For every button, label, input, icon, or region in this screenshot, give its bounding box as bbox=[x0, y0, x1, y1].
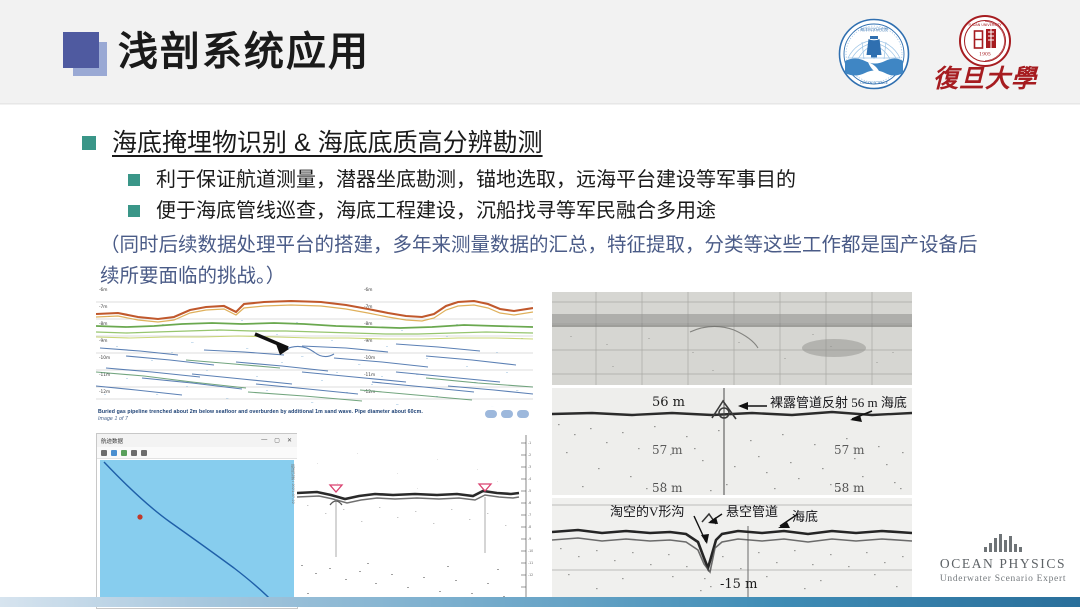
pager-dot[interactable] bbox=[501, 410, 513, 418]
bullet-marker-icon bbox=[128, 174, 140, 186]
svg-text:-1: -1 bbox=[528, 441, 531, 445]
svg-text:-9m: -9m bbox=[99, 338, 107, 344]
scoured-pipeline-profile: -15 m 淘空的V形沟 悬空管道 海底 bbox=[552, 498, 912, 597]
svg-text:海洋科学研究院: 海洋科学研究院 bbox=[860, 26, 888, 32]
pager-dot[interactable] bbox=[517, 410, 529, 418]
note-paragraph: （同时后续数据处理平台的搭建，多年来测量数据的汇总，特征提取，分类等这些工作都是… bbox=[100, 230, 990, 292]
seabed-annotation: 海底 bbox=[792, 506, 818, 525]
svg-text:-15 m: -15 m bbox=[720, 577, 757, 592]
pager-dot[interactable] bbox=[485, 410, 497, 418]
fudan-wordmark: 復旦大學 bbox=[930, 64, 1040, 96]
record-icon[interactable] bbox=[101, 450, 107, 456]
brand-tagline: Underwater Scenario Expert bbox=[936, 574, 1070, 584]
open-folder-icon[interactable] bbox=[111, 450, 117, 456]
ocean-institute-emblem-icon: 海洋科学研究院 OCEAN SCIENCE bbox=[838, 18, 910, 90]
survey-track-application-window[interactable]: 航迹数据 — ▢ ✕ 航迹记录 / 2021-07-22 bbox=[96, 433, 298, 609]
ocean-physics-brand: OCEAN PHYSICS Underwater Scenario Expert bbox=[936, 534, 1070, 590]
figure-caption: Buried gas pipeline trenched about 2m be… bbox=[98, 409, 428, 422]
title-decoration-icon bbox=[63, 32, 109, 78]
fudan-seal-icon: FUDAN UNIVERSITY 1905 bbox=[958, 14, 1012, 68]
bottom-accent-bar bbox=[0, 597, 1080, 607]
page-title: 浅剖系统应用 bbox=[118, 22, 370, 82]
brand-name: OCEAN PHYSICS bbox=[936, 556, 1070, 572]
window-title: 航迹数据 bbox=[101, 437, 123, 445]
svg-text:FUDAN UNIVERSITY: FUDAN UNIVERSITY bbox=[968, 23, 1002, 27]
svg-text:-2: -2 bbox=[528, 453, 531, 457]
svg-text:-4: -4 bbox=[528, 477, 531, 481]
maximize-button[interactable]: ▢ bbox=[274, 437, 280, 444]
close-button[interactable]: ✕ bbox=[287, 437, 292, 444]
header-divider bbox=[0, 103, 1080, 105]
svg-text:1905: 1905 bbox=[979, 52, 991, 58]
window-toolbar[interactable] bbox=[97, 447, 298, 459]
target-profile-graphic: -1-2-3 -4-5-6 -7-8-9 -10-11-12 bbox=[297, 433, 536, 607]
title-square-front bbox=[63, 32, 99, 68]
side-scan-graphic bbox=[552, 292, 912, 385]
section-heading: 海底掩埋物识别 & 海底底质高分辨勘测 bbox=[112, 126, 543, 160]
bullet-marker-icon bbox=[82, 136, 96, 150]
caption-text: Buried gas pipeline trenched about 2m be… bbox=[98, 409, 423, 415]
waveform-icon bbox=[936, 534, 1070, 552]
svg-text:56 m: 56 m bbox=[652, 395, 685, 410]
svg-text:-11m: -11m bbox=[364, 372, 375, 378]
svg-text:-7m: -7m bbox=[99, 304, 107, 310]
window-side-label: 航迹记录 / 2021-07-22 bbox=[290, 464, 296, 504]
info-icon[interactable] bbox=[141, 450, 147, 456]
svg-text:-7: -7 bbox=[528, 513, 531, 517]
svg-text:OCEAN SCIENCE: OCEAN SCIENCE bbox=[860, 81, 888, 85]
sub-bullet-item: 便于海底管线巡查，海底工程建设，沉船找寻等军民融合多用途 bbox=[128, 196, 716, 226]
svg-text:-6m: -6m bbox=[99, 287, 107, 293]
svg-text:-12: -12 bbox=[528, 573, 533, 577]
suspended-pipeline-annotation: 悬空管道 bbox=[726, 501, 778, 520]
track-graphic bbox=[100, 460, 294, 605]
sub-bullet-item: 利于保证航道测量，潜器坐底勘测，锚地选取，远海平台建设等军事目的 bbox=[128, 165, 796, 195]
svg-text:-6m: -6m bbox=[364, 287, 372, 293]
svg-text:57 m: 57 m bbox=[834, 443, 865, 457]
caption-image-index: Image 1 of 7 bbox=[98, 416, 128, 422]
svg-text:-10: -10 bbox=[528, 549, 533, 553]
route-icon[interactable] bbox=[131, 450, 137, 456]
seafloor-target-profile: -1-2-3 -4-5-6 -7-8-9 -10-11-12 bbox=[297, 433, 536, 607]
svg-text:57 m: 57 m bbox=[652, 443, 683, 457]
save-icon[interactable] bbox=[121, 450, 127, 456]
side-scan-sonar-panel bbox=[552, 292, 912, 385]
svg-text:-12m: -12m bbox=[364, 389, 375, 395]
sub-bullet-label: 便于海底管线巡查，海底工程建设，沉船找寻等军民融合多用途 bbox=[156, 196, 716, 226]
slide-root: 浅剖系统应用 海洋科学研究院 OCEAN SCIENCE bbox=[0, 0, 1080, 607]
minimize-button[interactable]: — bbox=[261, 437, 267, 444]
svg-text:-5: -5 bbox=[528, 489, 531, 493]
svg-text:-9: -9 bbox=[528, 537, 531, 541]
svg-text:-8: -8 bbox=[528, 525, 531, 529]
svg-text:-3: -3 bbox=[528, 465, 531, 469]
svg-text:-10m: -10m bbox=[99, 355, 110, 361]
heading-bullet: 海底掩埋物识别 & 海底底质高分辨勘测 bbox=[82, 126, 543, 160]
sub-bullet-label: 利于保证航道测量，潜器坐底勘测，锚地选取，远海平台建设等军事目的 bbox=[156, 165, 796, 195]
svg-text:-11: -11 bbox=[528, 561, 533, 565]
svg-text:58 m: 58 m bbox=[652, 481, 683, 495]
fudan-university-logo: FUDAN UNIVERSITY 1905 復旦大學 bbox=[930, 14, 1040, 96]
subbottom-profile-graphic: -6m-7m-8m -9m-10m-11m -12m -6m-7m-8m -9m… bbox=[96, 286, 533, 423]
svg-text:58 m: 58 m bbox=[834, 481, 865, 495]
v-groove-annotation: 淘空的V形沟 bbox=[610, 501, 684, 520]
bullet-marker-icon bbox=[128, 205, 140, 217]
buried-pipeline-subbottom-profile: -6m-7m-8m -9m-10m-11m -12m -6m-7m-8m -9m… bbox=[96, 286, 533, 423]
window-title-bar[interactable]: 航迹数据 — ▢ ✕ bbox=[97, 434, 297, 448]
track-map-canvas[interactable] bbox=[100, 460, 294, 605]
exposed-pipeline-annotation: 裸露管道反射 56 m 海底 bbox=[770, 392, 907, 411]
svg-text:-6: -6 bbox=[528, 501, 531, 505]
pipeline-survey-profiles: 56 m 57 m 57 m 58 m 58 m 裸露管道反射 56 m 海底 bbox=[552, 292, 912, 597]
figure-pager-dots[interactable] bbox=[485, 410, 529, 418]
exposed-pipeline-profile: 56 m 57 m 57 m 58 m 58 m 裸露管道反射 56 m 海底 bbox=[552, 388, 912, 495]
